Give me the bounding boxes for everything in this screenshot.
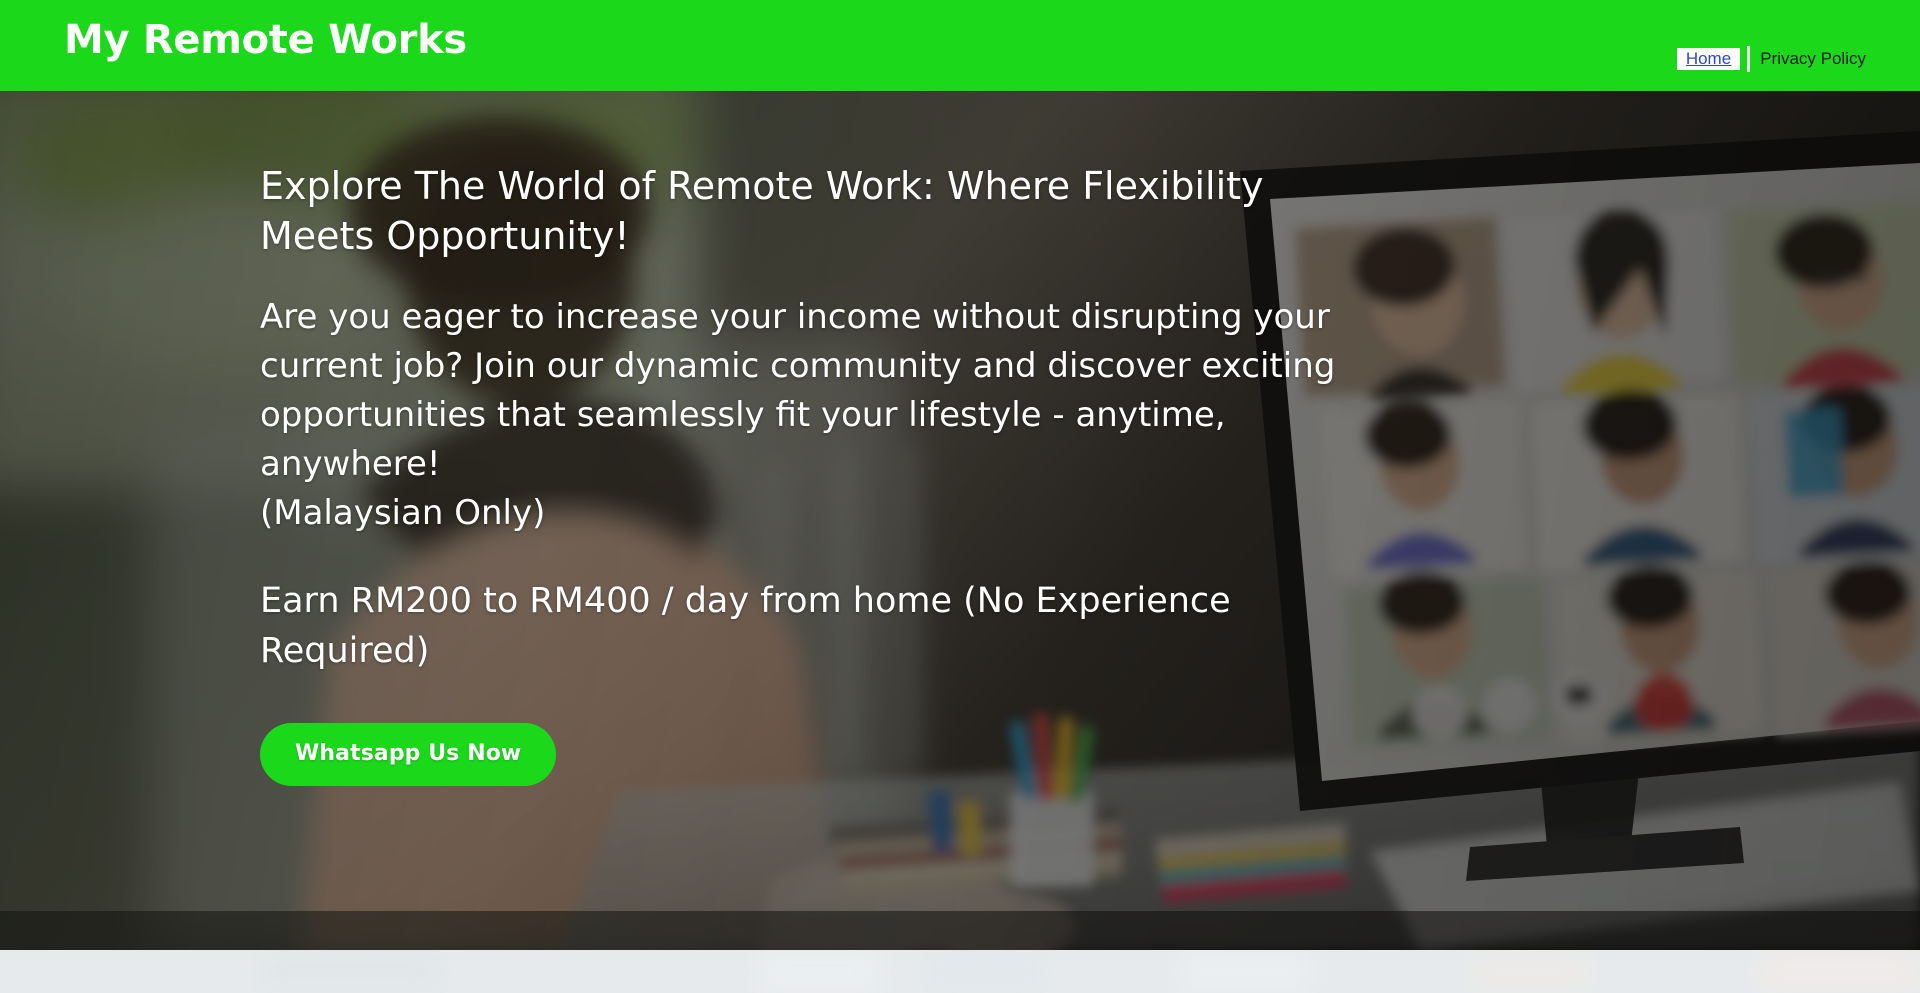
next-section-preview [0,950,1920,993]
site-header: My Remote Works Home Privacy Policy [0,0,1920,91]
whatsapp-cta-button[interactable]: Whatsapp Us Now [260,723,556,786]
main-navigation: Home Privacy Policy [1677,46,1866,72]
site-brand-title: My Remote Works [64,18,467,62]
nav-item-home[interactable]: Home [1677,48,1740,70]
hero-content: Explore The World of Remote Work: Where … [260,161,1390,786]
hero-subheading: Earn RM200 to RM400 / day from home (No … [260,576,1320,676]
nav-link-home[interactable]: Home [1686,50,1731,67]
hero-paragraph: Are you eager to increase your income wi… [260,293,1390,538]
nav-link-privacy-policy[interactable]: Privacy Policy [1760,49,1866,69]
hero-section: Explore The World of Remote Work: Where … [0,91,1920,950]
next-section-background [0,950,1920,993]
hero-heading: Explore The World of Remote Work: Where … [260,161,1350,261]
nav-divider [1747,46,1750,72]
